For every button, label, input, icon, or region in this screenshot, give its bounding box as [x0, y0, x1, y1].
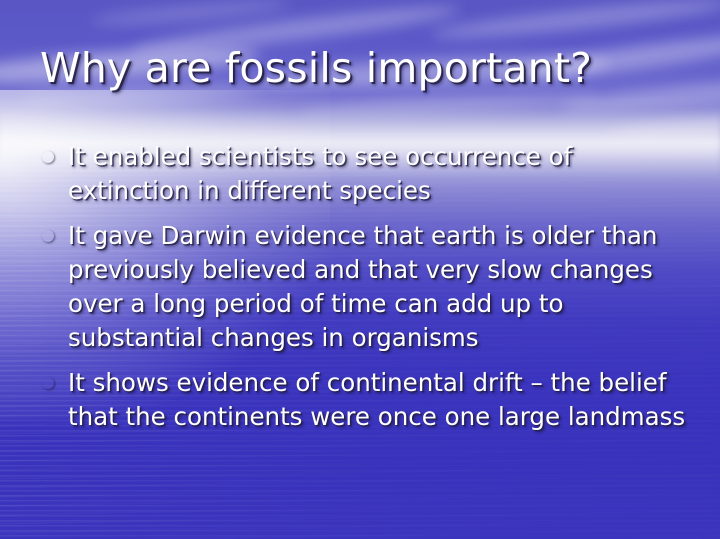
bullet-dot-icon [42, 151, 54, 163]
bullet-item-text: It enabled scientists to see occurrence … [68, 142, 572, 205]
bullet-item-text: It gave Darwin evidence that earth is ol… [68, 221, 657, 352]
slide-content: Why are fossils important? It enabled sc… [0, 0, 720, 539]
bullet-item-text: It shows evidence of continental drift –… [68, 368, 685, 431]
bullet-dot-icon [42, 230, 54, 242]
bullet-list-item: It shows evidence of continental drift –… [40, 366, 690, 434]
bullet-list-item: It gave Darwin evidence that earth is ol… [40, 219, 690, 355]
bullet-list-item: It enabled scientists to see occurrence … [40, 140, 690, 208]
bullet-list: It enabled scientists to see occurrence … [40, 140, 690, 434]
presentation-slide: Why are fossils important? It enabled sc… [0, 0, 720, 539]
slide-title: Why are fossils important? [40, 44, 592, 92]
bullet-dot-icon [42, 377, 54, 389]
